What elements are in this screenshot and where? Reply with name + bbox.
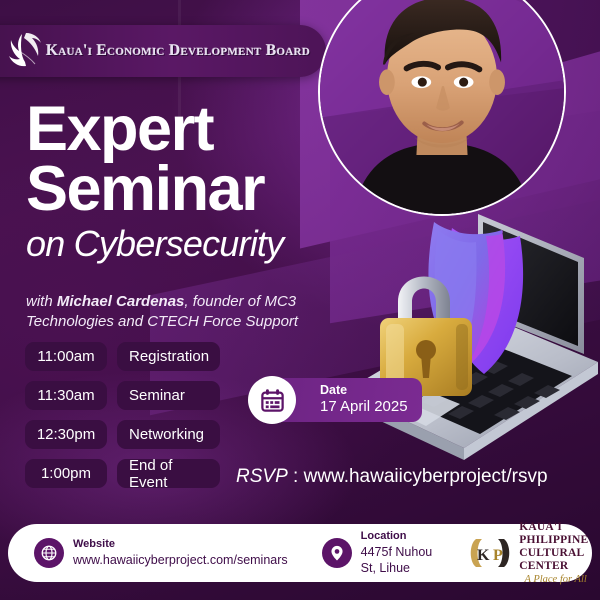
speaker-portrait-image	[320, 0, 564, 214]
schedule-activity: Seminar	[116, 380, 221, 411]
footer-website-kicker: Website	[73, 538, 288, 552]
kpcc-monogram-icon: K P	[468, 536, 512, 570]
date-kicker: Date	[320, 383, 422, 398]
event-poster: Kaua'i Economic Development Board	[0, 0, 600, 600]
partner-name-block: KAUA'I PHILIPPINE CULTURAL CENTER A Plac…	[519, 521, 592, 586]
schedule-activity: End of Event	[116, 458, 221, 489]
presenter-name: Michael Cardenas	[57, 293, 185, 310]
schedule-time: 12:30pm	[24, 419, 108, 450]
date-icon-circle	[248, 376, 296, 424]
laptop-shield-padlock-graphic	[326, 186, 600, 486]
presenter-line: with Michael Cardenas, founder of MC3 Te…	[26, 292, 346, 333]
schedule-row: 11:00am Registration	[24, 341, 221, 372]
schedule-row: 1:00pm End of Event	[24, 458, 221, 489]
calendar-icon	[259, 387, 286, 414]
date-badge: Date 17 April 2025	[248, 376, 422, 424]
footer-location-kicker: Location	[361, 530, 443, 544]
rsvp-url[interactable]: www.hawaiicyberproject/rsvp	[304, 466, 548, 487]
footer-website-value: www.hawaiicyberproject.com/seminars	[73, 552, 288, 568]
svg-text:K: K	[477, 547, 490, 564]
footer-location-value: 4475f Nuhou St, Lihue	[361, 544, 443, 577]
schedule-activity: Networking	[116, 419, 221, 450]
presenter-prefix: with	[26, 293, 57, 310]
partner-line-1: KAUA'I PHILIPPINE	[519, 521, 592, 547]
headline-subtitle: on Cybersecurity	[26, 226, 356, 262]
schedule-row: 11:30am Seminar	[24, 380, 221, 411]
schedule-activity: Registration	[116, 341, 221, 372]
headline-line-2: Seminar	[26, 160, 356, 220]
footer-website[interactable]: Website www.hawaiicyberproject.com/semin…	[34, 538, 288, 568]
map-pin-icon	[322, 538, 352, 568]
rsvp-separator: :	[288, 466, 304, 487]
svg-text:P: P	[493, 547, 503, 564]
kauai-leaf-icon	[8, 32, 44, 70]
date-value: 17 April 2025	[320, 398, 422, 417]
footer-bar: Website www.hawaiicyberproject.com/semin…	[8, 524, 592, 582]
schedule-time: 11:30am	[24, 380, 108, 411]
partner-logo: K P KAUA'I PHILIPPINE CULTURAL CENTER A …	[468, 521, 592, 586]
cybersecurity-illustration	[326, 186, 600, 486]
schedule-list: 11:00am Registration 11:30am Seminar 12:…	[24, 341, 221, 489]
footer-location: Location 4475f Nuhou St, Lihue	[322, 530, 443, 576]
page-title: Expert Seminar on Cybersecurity	[26, 100, 356, 262]
schedule-row: 12:30pm Networking	[24, 419, 221, 450]
globe-icon	[34, 538, 64, 568]
rsvp-line: RSVP : www.hawaiicyberproject/rsvp	[236, 466, 548, 488]
headline-line-1: Expert	[26, 100, 356, 160]
org-logo-text: Kaua'i Economic Development Board	[46, 42, 310, 60]
rsvp-label: RSVP	[236, 466, 288, 487]
schedule-time: 1:00pm	[24, 458, 108, 489]
date-chip: Date 17 April 2025	[274, 378, 422, 422]
partner-tagline: A Place for All	[519, 574, 592, 585]
partner-line-2: CULTURAL CENTER	[519, 547, 592, 573]
globe-icon-glyph	[40, 544, 58, 562]
org-logo-banner: Kaua'i Economic Development Board	[0, 25, 326, 77]
map-pin-icon-glyph	[328, 544, 346, 562]
schedule-time: 11:00am	[24, 341, 108, 372]
